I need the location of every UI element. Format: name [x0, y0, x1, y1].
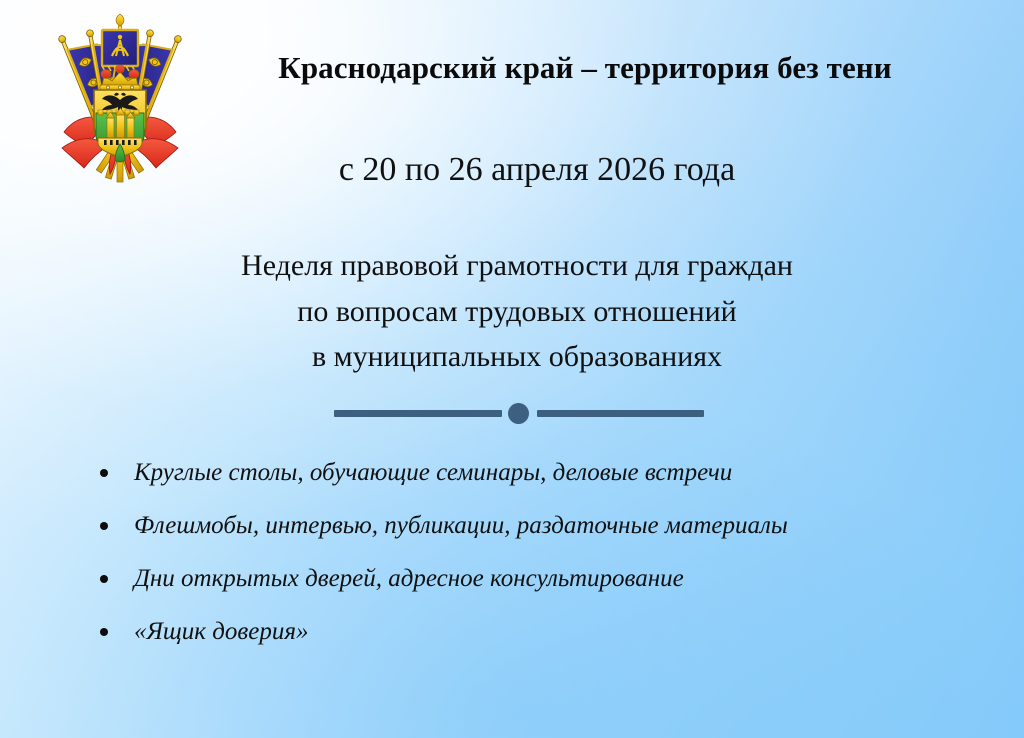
- subject-line-2: по вопросам трудовых отношений: [92, 289, 942, 335]
- bullet-dot-icon: [100, 628, 108, 636]
- subject-line-3: в муниципальных образованиях: [92, 334, 942, 380]
- date-range: с 20 по 26 апреля 2026 года: [112, 150, 962, 191]
- bullet-dot-icon: [100, 575, 108, 583]
- bullet-dot-icon: [100, 522, 108, 530]
- divider-bar-left: [334, 410, 502, 417]
- list-item: Флешмобы, интервью, публикации, раздаточ…: [92, 499, 972, 552]
- list-item-label: Круглые столы, обучающие семинары, делов…: [134, 459, 732, 487]
- list-item: Дни открытых дверей, адресное консультир…: [92, 552, 972, 605]
- page-title: Краснодарский край – территория без тени: [190, 50, 980, 87]
- list-item-label: Флешмобы, интервью, публикации, раздаточ…: [134, 512, 788, 540]
- activities-list: Круглые столы, обучающие семинары, делов…: [92, 446, 972, 658]
- subject-heading: Неделя правовой грамотности для граждан …: [92, 243, 942, 380]
- list-item-label: «Ящик доверия»: [134, 618, 308, 646]
- list-item: «Ящик доверия»: [92, 605, 972, 658]
- list-item-label: Дни открытых дверей, адресное консультир…: [134, 565, 684, 593]
- list-item: Круглые столы, обучающие семинары, делов…: [92, 446, 972, 499]
- bullet-dot-icon: [100, 469, 108, 477]
- subject-line-1: Неделя правовой грамотности для граждан: [92, 243, 942, 289]
- divider-dot-icon: [508, 403, 529, 424]
- slide-canvas: Краснодарский край – территория без тени…: [0, 0, 1024, 738]
- divider-bar-right: [537, 410, 704, 417]
- section-divider-ornament: [334, 402, 704, 424]
